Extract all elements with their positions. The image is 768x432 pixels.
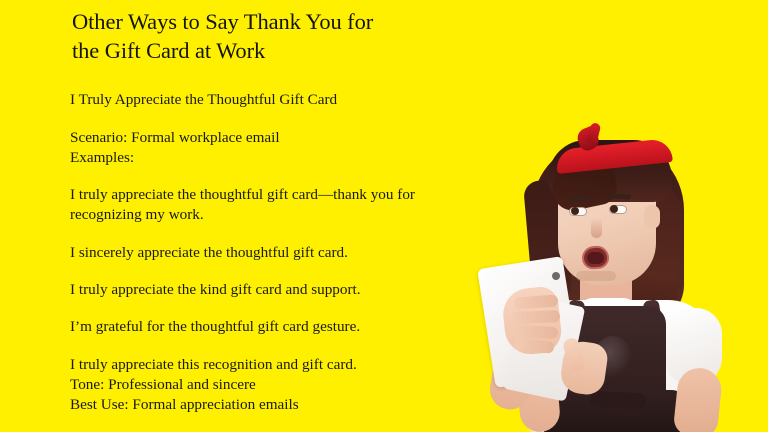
section-heading: I Truly Appreciate the Thoughtful Gift C… [70, 90, 515, 110]
example-1: I truly appreciate the thoughtful gift c… [70, 185, 515, 225]
eyebrow-right [609, 193, 631, 199]
pupil-left [571, 207, 579, 215]
example-2: I sincerely appreciate the thoughtful gi… [70, 243, 515, 263]
apron-tie [590, 391, 647, 410]
finger-middle [512, 310, 560, 324]
summary-block: I truly appreciate this recognition and … [70, 355, 515, 414]
text-column: Other Ways to Say Thank You for the Gift… [70, 8, 515, 414]
example-3: I truly appreciate the kind gift card an… [70, 280, 515, 300]
page-title: Other Ways to Say Thank You for the Gift… [72, 8, 515, 65]
slide-canvas: Other Ways to Say Thank You for the Gift… [0, 0, 768, 432]
mouth-inner [587, 252, 604, 264]
pupil-right [610, 205, 618, 213]
scenario-block: Scenario: Formal workplace email Example… [70, 128, 515, 168]
example-4: I’m grateful for the thoughtful gift car… [70, 317, 515, 337]
finger-ring [512, 325, 558, 339]
ear [644, 205, 660, 229]
nose [591, 218, 602, 238]
chin-shadow [576, 271, 616, 281]
